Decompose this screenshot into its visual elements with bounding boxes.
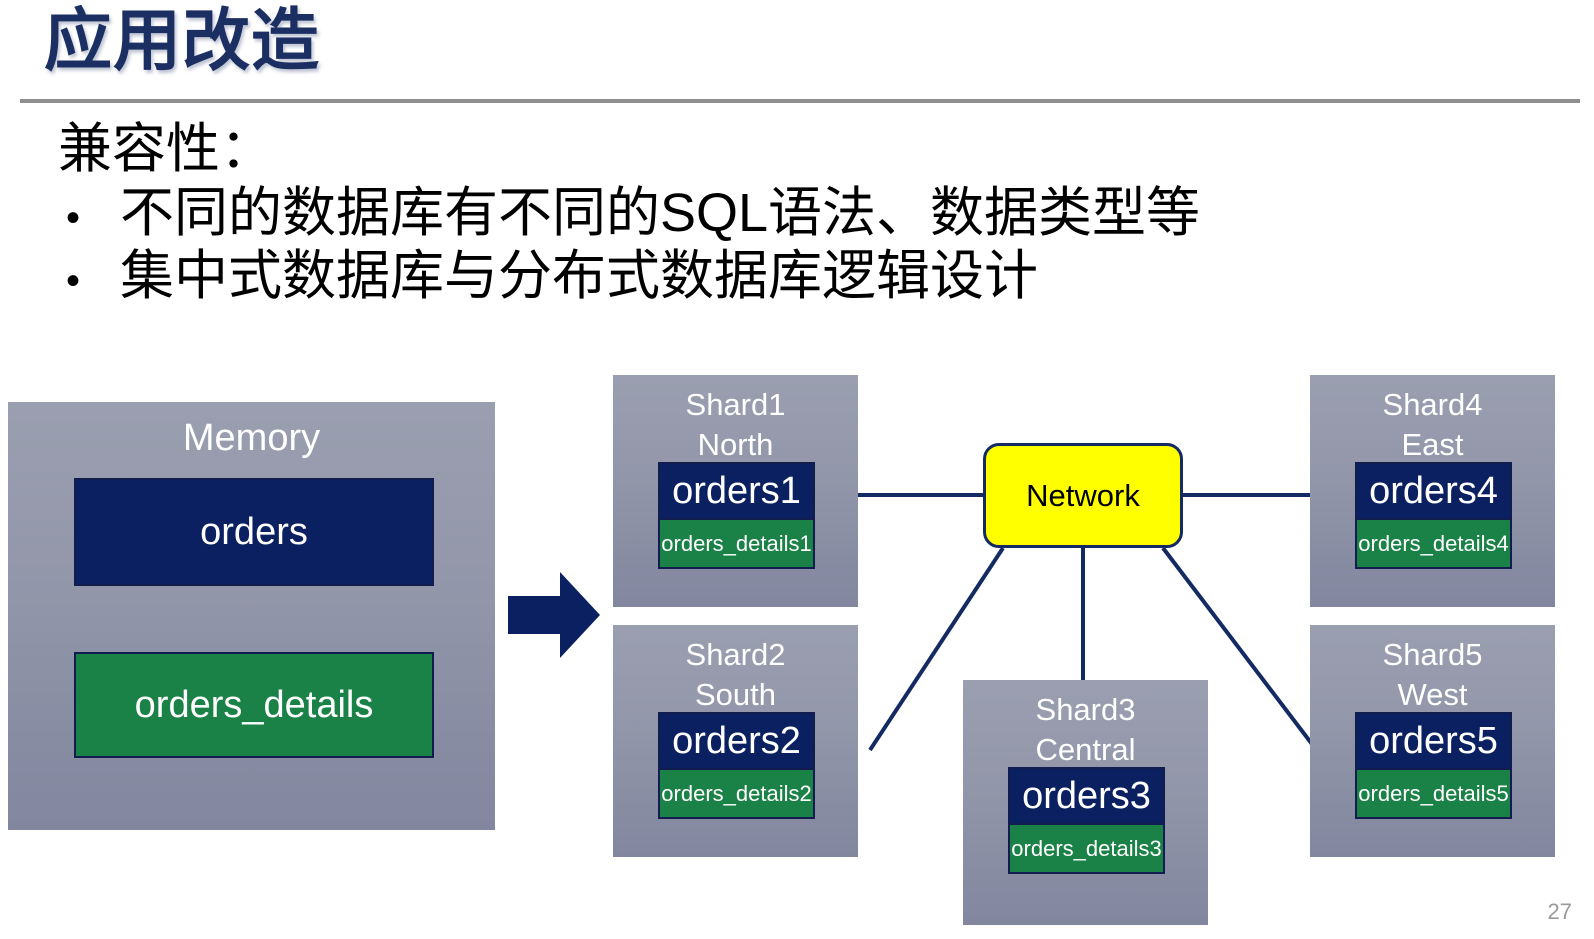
slide-canvas: 应用改造 兼容性： • 不同的数据库有不同的SQL语法、数据类型等 • 集中式数…	[0, 0, 1594, 939]
shard5-orders-table: orders5	[1355, 712, 1512, 770]
shard5-region: West	[1310, 675, 1555, 715]
shard3-region: Central	[963, 730, 1208, 770]
memory-orders-table: orders	[74, 478, 434, 586]
page-number: 27	[1548, 899, 1572, 925]
shard1-name: Shard1	[613, 375, 858, 425]
shard2-orders-table: orders2	[658, 712, 815, 770]
shard4-orders-table: orders4	[1355, 462, 1512, 520]
shard-card-shard4: Shard4 East orders4 orders_details4	[1310, 375, 1555, 607]
shard4-name: Shard4	[1310, 375, 1555, 425]
shard1-orders-details-table: orders_details1	[658, 520, 815, 569]
shard3-orders-table: orders3	[1008, 767, 1165, 825]
network-node: Network	[983, 443, 1183, 548]
shard4-region: East	[1310, 425, 1555, 465]
shard1-orders-table: orders1	[658, 462, 815, 520]
shard2-orders-details-table: orders_details2	[658, 770, 815, 819]
shard-card-shard1: Shard1 North orders1 orders_details1	[613, 375, 858, 607]
shard-card-shard3: Shard3 Central orders3 orders_details3	[963, 680, 1208, 925]
shard-card-shard5: Shard5 West orders5 orders_details5	[1310, 625, 1555, 857]
shard5-name: Shard5	[1310, 625, 1555, 675]
shard3-name: Shard3	[963, 680, 1208, 730]
memory-orders-details-table: orders_details	[74, 652, 434, 758]
shard-card-shard2: Shard2 South orders2 orders_details2	[613, 625, 858, 857]
shard5-orders-details-table: orders_details5	[1355, 770, 1512, 819]
right-arrow-icon	[508, 570, 600, 660]
shard4-orders-details-table: orders_details4	[1355, 520, 1512, 569]
sharding-diagram: Memory orders orders_details Shard1 Nort…	[0, 0, 1594, 939]
shard2-region: South	[613, 675, 858, 715]
memory-panel: Memory orders orders_details	[8, 402, 495, 830]
shard2-name: Shard2	[613, 625, 858, 675]
shard1-region: North	[613, 425, 858, 465]
shard3-orders-details-table: orders_details3	[1008, 825, 1165, 874]
memory-label: Memory	[8, 402, 495, 460]
